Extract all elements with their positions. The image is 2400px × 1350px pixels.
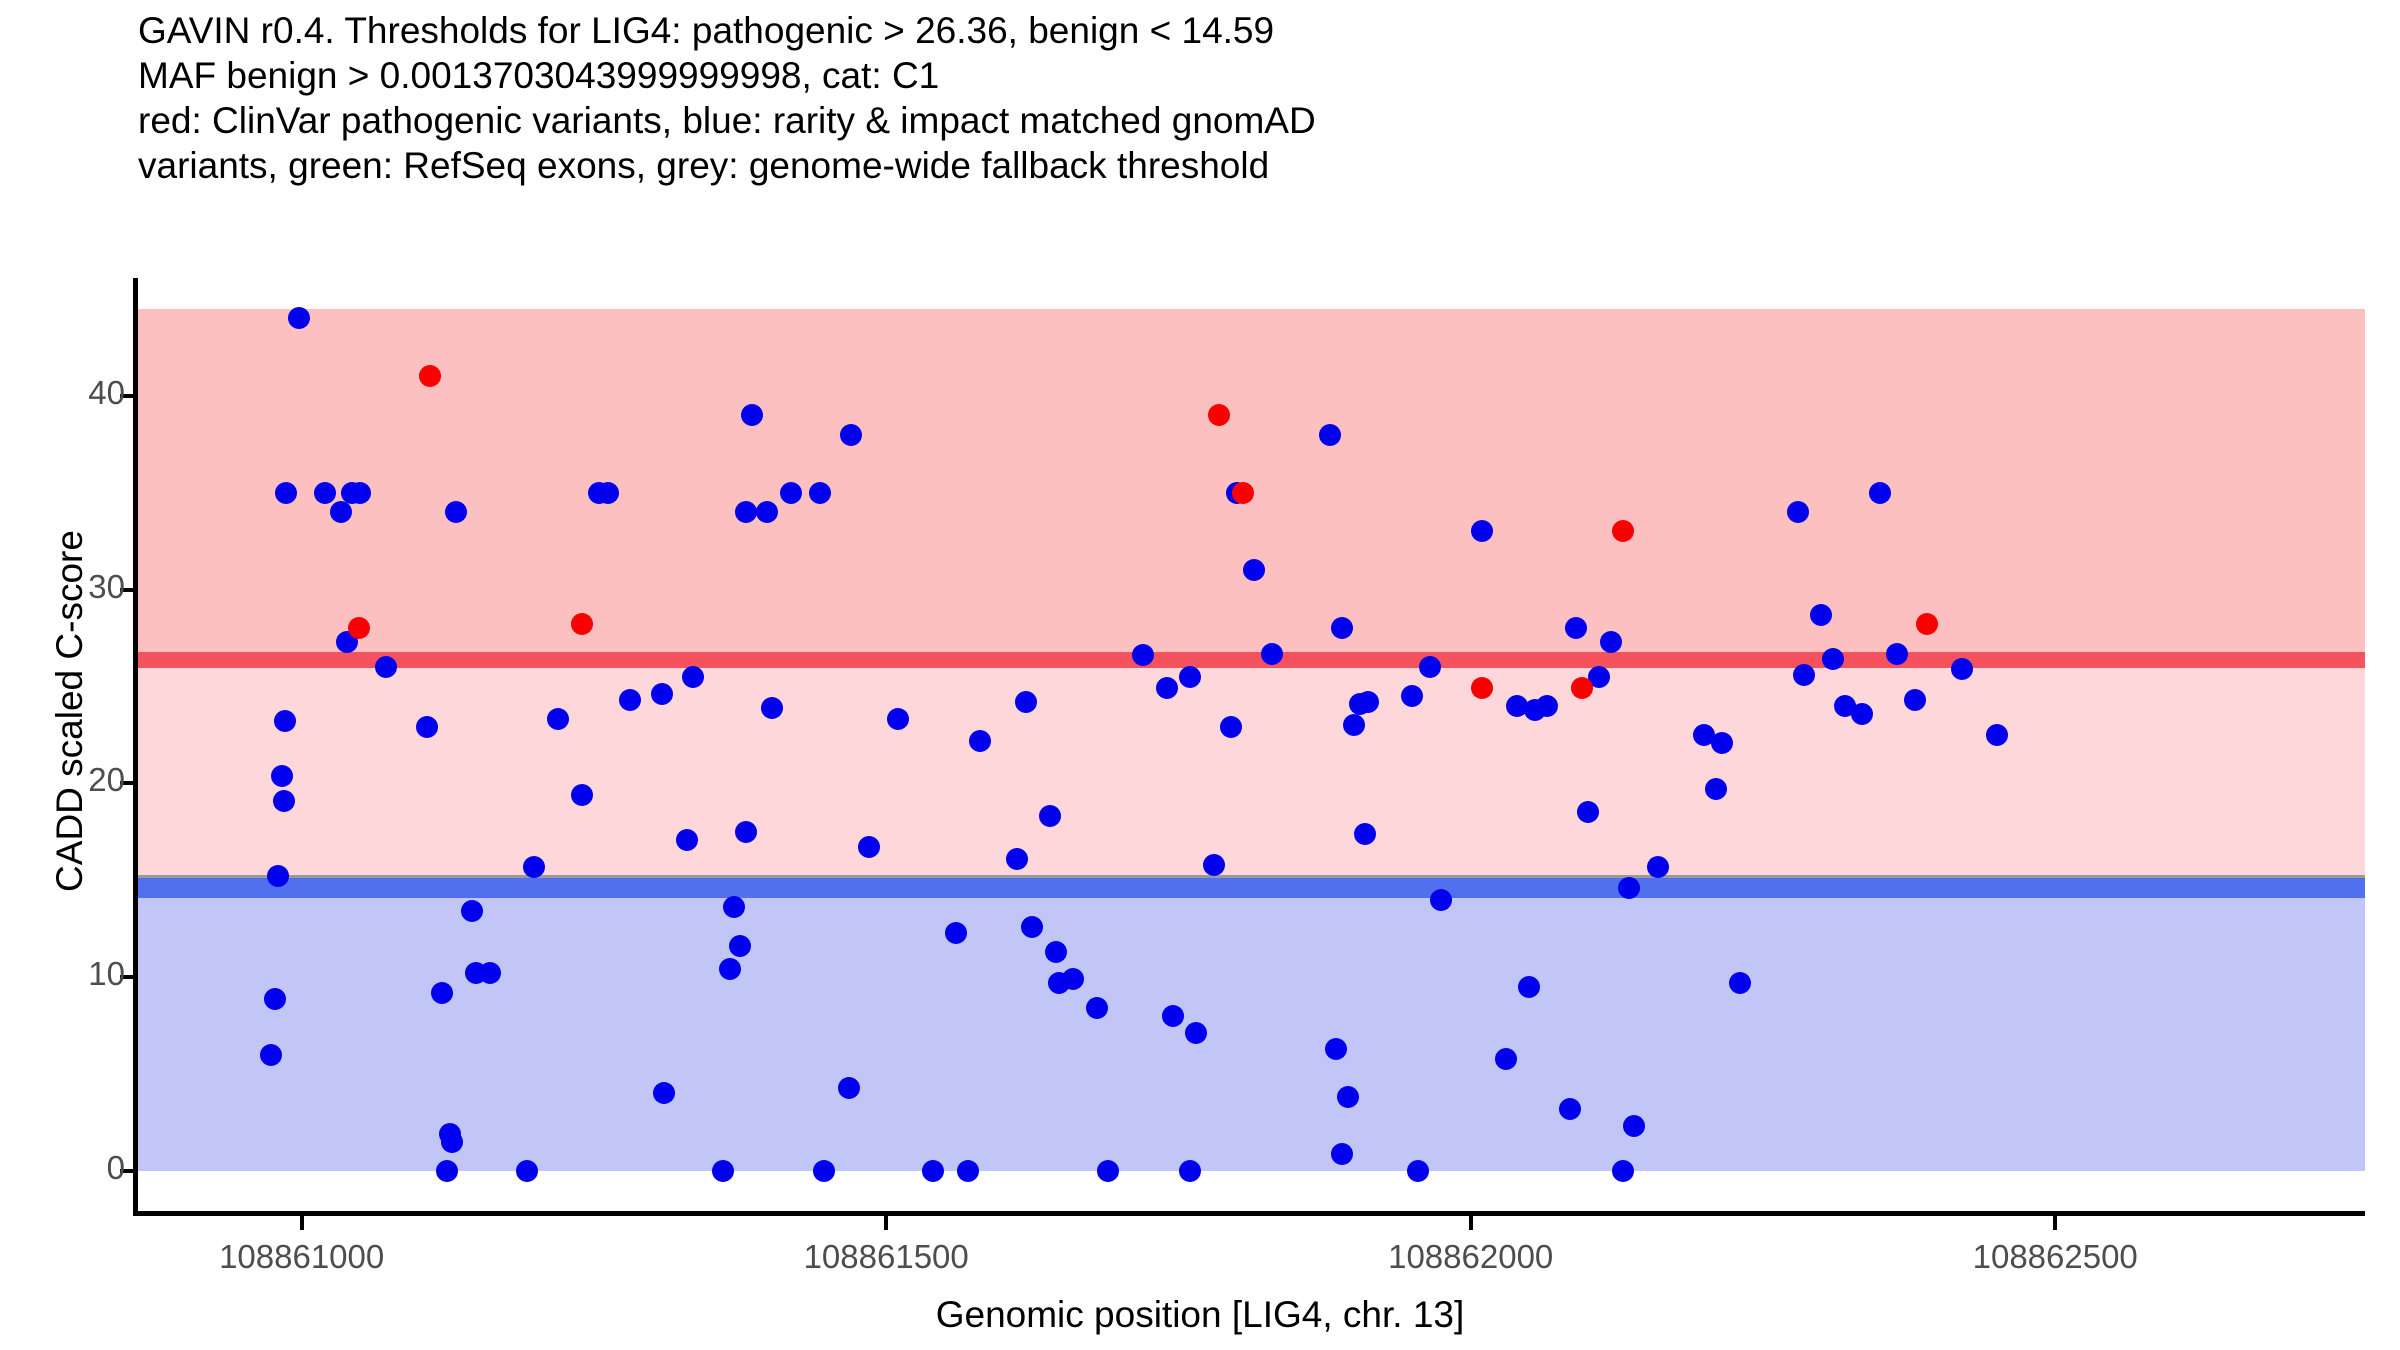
gnomad-variant-point	[260, 1044, 282, 1066]
gnomad-variant-point	[375, 656, 397, 678]
benign-region-band	[138, 888, 2365, 1171]
gnomad-variant-point	[1787, 501, 1809, 523]
gnomad-variant-point	[735, 501, 757, 523]
gnomad-variant-point	[516, 1160, 538, 1182]
gnomad-variant-point	[957, 1160, 979, 1182]
gnomad-variant-point	[838, 1077, 860, 1099]
gnomad-variant-point	[416, 716, 438, 738]
gnomad-variant-point	[922, 1160, 944, 1182]
gnomad-variant-point	[523, 856, 545, 878]
vus-region-band	[138, 660, 2365, 888]
gnomad-variant-point	[314, 482, 336, 504]
gnomad-variant-point	[858, 836, 880, 858]
gnomad-variant-point	[969, 730, 991, 752]
gnomad-variant-point	[349, 482, 371, 504]
gnomad-variant-point	[1179, 1160, 1201, 1182]
x-tick-label: 108862500	[1973, 1238, 2138, 1276]
gnomad-variant-point	[676, 829, 698, 851]
gnomad-variant-point	[445, 501, 467, 523]
benign-threshold-line	[138, 878, 2365, 898]
gnomad-variant-point	[1407, 1160, 1429, 1182]
gnomad-variant-point	[813, 1160, 835, 1182]
pathogenic-variant-point	[1916, 613, 1938, 635]
gnomad-variant-point	[1261, 643, 1283, 665]
gnomad-variant-point	[1097, 1160, 1119, 1182]
x-tick-label: 108861500	[804, 1238, 969, 1276]
gnomad-variant-point	[1021, 916, 1043, 938]
x-tick-mark	[1469, 1216, 1473, 1230]
gnomad-variant-point	[1886, 643, 1908, 665]
gnomad-variant-point	[712, 1160, 734, 1182]
gnomad-variant-point	[1711, 732, 1733, 754]
gnomad-variant-point	[1419, 656, 1441, 678]
gnomad-variant-point	[761, 697, 783, 719]
gnomad-variant-point	[1039, 805, 1061, 827]
gnomad-variant-point	[1430, 889, 1452, 911]
pathogenic-threshold-line	[138, 652, 2365, 668]
gnomad-variant-point	[1618, 877, 1640, 899]
gnomad-variant-point	[1357, 691, 1379, 713]
gnomad-variant-point	[1325, 1038, 1347, 1060]
gnomad-variant-point	[1319, 424, 1341, 446]
gnomad-variant-point	[735, 821, 757, 843]
gnomad-variant-point	[273, 790, 295, 812]
x-tick-label: 108862000	[1388, 1238, 1553, 1276]
gnomad-variant-point	[1729, 972, 1751, 994]
gnomad-variant-point	[1495, 1048, 1517, 1070]
gnomad-variant-point	[756, 501, 778, 523]
gnomad-variant-point	[741, 404, 763, 426]
gnomad-variant-point	[1577, 801, 1599, 823]
x-tick-mark	[884, 1216, 888, 1230]
gnomad-variant-point	[1986, 724, 2008, 746]
gnomad-variant-point	[1869, 482, 1891, 504]
pathogenic-variant-point	[1232, 482, 1254, 504]
gnomad-variant-point	[264, 988, 286, 1010]
x-tick-label: 108861000	[219, 1238, 384, 1276]
pathogenic-region-band	[138, 309, 2365, 661]
gnomad-variant-point	[1951, 658, 1973, 680]
gnomad-variant-point	[436, 1160, 458, 1182]
y-tick-label: 0	[0, 1149, 125, 1187]
gnomad-variant-point	[547, 708, 569, 730]
gnomad-variant-point	[275, 482, 297, 504]
gnomad-variant-point	[1006, 848, 1028, 870]
x-tick-mark	[2053, 1216, 2057, 1230]
scatter-plot: 010203040 108861000108861500108862000108…	[0, 0, 2400, 1350]
gnomad-variant-point	[1647, 856, 1669, 878]
gnomad-variant-point	[1343, 714, 1365, 736]
gnomad-variant-point	[1045, 941, 1067, 963]
x-tick-mark	[300, 1216, 304, 1230]
gnomad-variant-point	[1559, 1098, 1581, 1120]
pathogenic-variant-point	[1612, 520, 1634, 542]
y-axis-label: CADD scaled C-score	[49, 311, 91, 1111]
gnomad-variant-point	[1203, 854, 1225, 876]
gnomad-variant-point	[1904, 689, 1926, 711]
gnomad-variant-point	[1793, 664, 1815, 686]
gnomad-variant-point	[809, 482, 831, 504]
gnomad-variant-point	[651, 683, 673, 705]
gnomad-variant-point	[431, 982, 453, 1004]
gnomad-variant-point	[1851, 703, 1873, 725]
gnomad-variant-point	[597, 482, 619, 504]
gnomad-variant-point	[945, 922, 967, 944]
gnomad-variant-point	[1600, 631, 1622, 653]
gnomad-variant-point	[1162, 1005, 1184, 1027]
gnomad-variant-point	[1518, 976, 1540, 998]
gnomad-variant-point	[840, 424, 862, 446]
gnomad-variant-point	[682, 666, 704, 688]
gnomad-variant-point	[1086, 997, 1108, 1019]
gnomad-variant-point	[271, 765, 293, 787]
x-axis-label: Genomic position [LIG4, chr. 13]	[0, 1294, 2400, 1336]
gnomad-variant-point	[1536, 695, 1558, 717]
plot-data-area	[138, 278, 2365, 1215]
gnomad-variant-point	[719, 958, 741, 980]
gnomad-variant-point	[1331, 1143, 1353, 1165]
gnomad-variant-point	[1179, 666, 1201, 688]
gnomad-variant-point	[1612, 1160, 1634, 1182]
